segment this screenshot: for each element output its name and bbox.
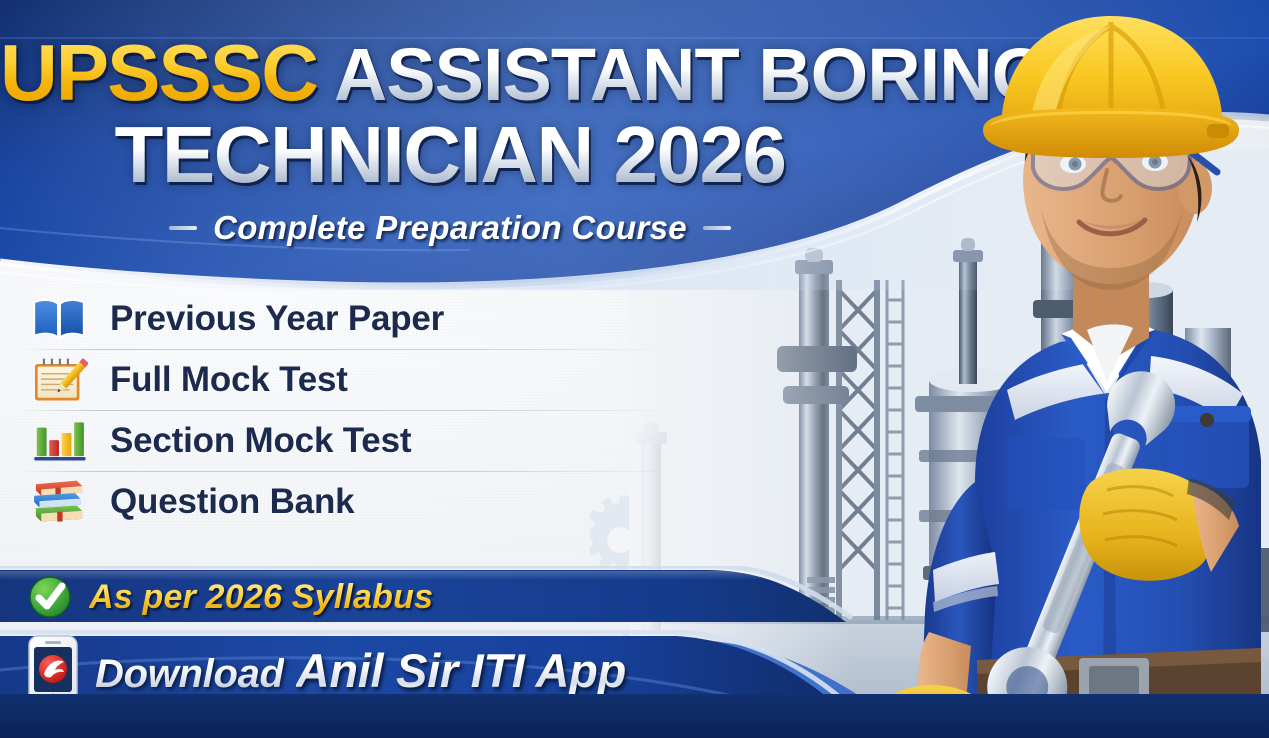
- syllabus-bar-content: As per 2026 Syllabus: [0, 566, 433, 628]
- syllabus-bar: As per 2026 Syllabus: [0, 566, 900, 628]
- list-item-label: Section Mock Test: [110, 421, 411, 461]
- footer-strip: [0, 694, 1269, 738]
- promo-banner: UPSSSC ASSISTANT BORING TECHNICIAN 2026 …: [0, 0, 1269, 738]
- app-bar-text: Download Anil Sir ITI App: [95, 643, 626, 698]
- download-label: Download: [95, 652, 284, 697]
- bar-chart-icon: [30, 417, 88, 465]
- list-item[interactable]: Question Bank: [0, 471, 700, 532]
- list-item[interactable]: Section Mock Test: [0, 410, 700, 471]
- list-item-label: Previous Year Paper: [110, 299, 444, 339]
- list-item[interactable]: Previous Year Paper: [0, 288, 700, 349]
- green-check-icon: [27, 574, 73, 620]
- memo-pencil-icon: [30, 356, 88, 404]
- list-item[interactable]: Full Mock Test: [0, 349, 700, 410]
- open-book-icon: [30, 295, 88, 343]
- list-item-label: Full Mock Test: [110, 360, 348, 400]
- app-name-label: Anil Sir ITI App: [296, 643, 626, 698]
- stacked-books-icon: [30, 478, 88, 526]
- feature-list: Previous Year Paper: [0, 288, 700, 532]
- syllabus-text: As per 2026 Syllabus: [89, 578, 433, 617]
- list-item-label: Question Bank: [110, 482, 354, 522]
